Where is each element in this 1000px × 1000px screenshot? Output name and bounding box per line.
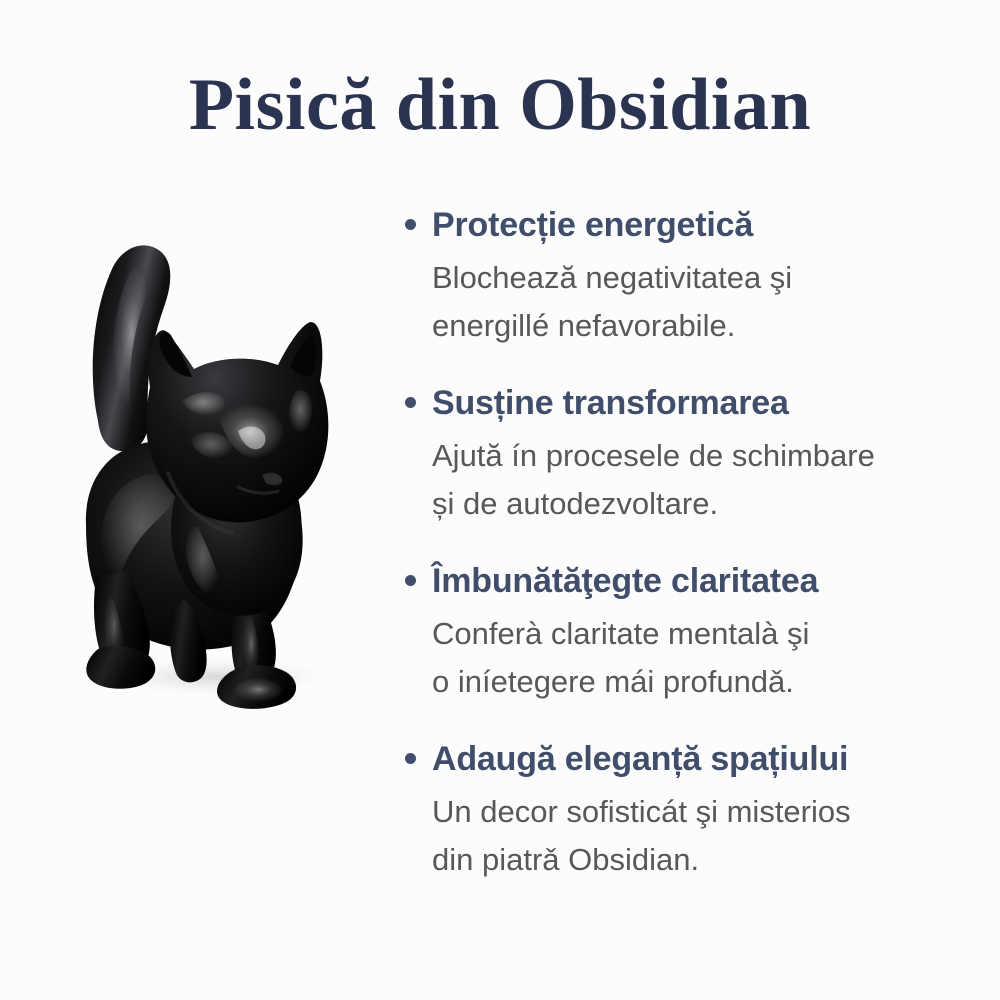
benefit-item: Protecție energetică Blochează negativit… <box>405 206 985 350</box>
benefits-list: Protecție energetică Blochează negativit… <box>405 206 985 884</box>
benefit-description-line: o iníetegere mái profundǎ. <box>432 658 985 706</box>
benefit-description-line: Conferà claritate mentalà şi <box>432 610 985 658</box>
benefit-title: Susține transformarea <box>432 384 789 422</box>
bullet-dot-icon <box>405 753 416 764</box>
benefit-title: Îmbunătăţegte claritatea <box>432 562 818 600</box>
benefit-description: Blochează negativitatea şi energillé nef… <box>432 254 985 350</box>
benefit-item: Susține transformarea Ajută ín procesele… <box>405 384 985 528</box>
benefit-description-line: din piatrǎ Obsidian. <box>432 836 985 884</box>
benefit-item: Îmbunătăţegte claritatea Conferà clarita… <box>405 562 985 706</box>
benefit-description-line: Ajută ín procesele de schimbare <box>432 432 985 480</box>
benefit-description-line: și de autodezvoltare. <box>432 480 985 528</box>
benefit-heading-row: Adaugă eleganță spațiului <box>405 740 985 778</box>
benefit-item: Adaugă eleganță spațiului Un decor sofis… <box>405 740 985 884</box>
benefit-description: Un decor sofisticát şi misterios din pia… <box>432 788 985 884</box>
product-infographic-page: Pisică din Obsidian <box>0 0 1000 1000</box>
benefit-heading-row: Susține transformarea <box>405 384 985 422</box>
benefit-heading-row: Îmbunătăţegte claritatea <box>405 562 985 600</box>
benefit-heading-row: Protecție energetică <box>405 206 985 244</box>
bullet-dot-icon <box>405 219 416 230</box>
benefit-description-line: Blochează negativitatea şi <box>432 254 985 302</box>
benefit-description: Ajută ín procesele de schimbare și de au… <box>432 432 985 528</box>
benefit-description-line: Un decor sofisticát şi misterios <box>432 788 985 836</box>
benefit-description: Conferà claritate mentalà şi o iníeteger… <box>432 610 985 706</box>
page-title: Pisică din Obsidian <box>0 68 1000 142</box>
benefit-title: Adaugă eleganță spațiului <box>432 740 848 778</box>
benefit-title: Protecție energetică <box>432 206 753 244</box>
obsidian-cat-figurine-icon <box>40 225 380 725</box>
bullet-dot-icon <box>405 397 416 408</box>
product-image <box>40 225 380 725</box>
benefit-description-line: energillé nefavorabile. <box>432 302 985 350</box>
bullet-dot-icon <box>405 575 416 586</box>
